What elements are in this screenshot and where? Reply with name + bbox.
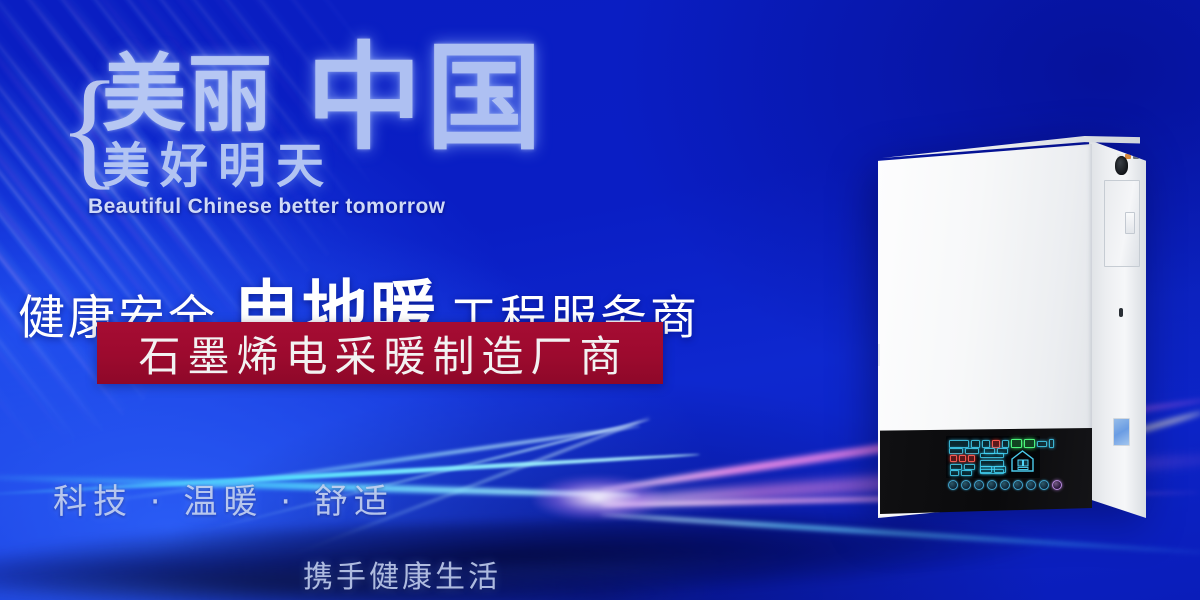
lcd-label-block-4 xyxy=(1002,440,1009,448)
touch-button-3[interactable] xyxy=(974,480,984,490)
promotional-banner: { 美丽 中国 美好明天 Beautiful Chinese better to… xyxy=(0,0,1200,600)
lcd-status-red-1 xyxy=(950,455,957,462)
red-banner-text: 石墨烯电采暖制造厂商 xyxy=(131,323,628,384)
product-touch-button-row[interactable] xyxy=(948,480,1062,490)
lcd-small-block-5 xyxy=(980,466,992,473)
logo-english-tagline: Beautiful Chinese better tomorrow xyxy=(88,196,445,217)
lcd-small-block-3 xyxy=(950,470,959,476)
lcd-small-block-4 xyxy=(961,470,972,476)
product-control-panel xyxy=(880,428,1092,514)
product-side-face xyxy=(1089,140,1146,518)
lcd-bar-1 xyxy=(980,453,1004,458)
lcd-alarm-indicator xyxy=(992,440,1000,448)
lcd-mode-block-1 xyxy=(949,448,963,454)
logo-primary-text: 美丽 xyxy=(102,52,274,136)
lcd-label-block-2 xyxy=(971,440,980,448)
light-convergence-hotspot xyxy=(533,476,663,520)
lcd-label-block-3 xyxy=(982,440,990,448)
tagline-primary: 科技 · 温暖 · 舒适 xyxy=(53,474,394,523)
product-side-latch xyxy=(1125,212,1135,234)
logo-accent-text: 中国 xyxy=(306,40,546,156)
tagline-secondary: 携手健康生活 xyxy=(303,552,501,596)
lcd-status-red-3 xyxy=(968,455,975,462)
touch-button-power[interactable] xyxy=(1052,480,1062,490)
lcd-label-block-5 xyxy=(1037,441,1047,447)
lcd-bottom-left-group xyxy=(950,470,972,476)
product-lcd-display xyxy=(946,436,1040,478)
lcd-top-row xyxy=(949,439,1054,448)
touch-button-4[interactable] xyxy=(987,480,997,490)
touch-button-2[interactable] xyxy=(961,480,971,490)
lcd-signal-icon xyxy=(1049,439,1054,448)
house-temperature-icon xyxy=(1010,449,1035,473)
lcd-status-indicators xyxy=(950,455,975,462)
lcd-bottom-mid-group xyxy=(980,466,1006,473)
touch-button-1[interactable] xyxy=(948,480,958,490)
connector-dark-icon xyxy=(1133,154,1139,159)
lcd-mode-block-2 xyxy=(965,448,979,454)
logo-secondary-text: 美好明天 xyxy=(102,142,334,190)
lcd-label-block-1 xyxy=(949,440,969,448)
lcd-digit-2 xyxy=(1024,439,1035,448)
touch-button-7[interactable] xyxy=(1026,480,1036,490)
touch-button-5[interactable] xyxy=(1000,480,1010,490)
product-vent-icon xyxy=(1115,156,1128,175)
product-side-port-icon xyxy=(1119,308,1123,317)
lcd-status-red-2 xyxy=(959,455,966,462)
lcd-digit-1 xyxy=(1011,439,1022,448)
lcd-small-block-6 xyxy=(994,466,1006,473)
red-highlight-banner: 石墨烯电采暖制造厂商 xyxy=(97,322,663,384)
product-side-indicator-window xyxy=(1113,418,1130,446)
touch-button-6[interactable] xyxy=(1013,480,1023,490)
touch-button-8[interactable] xyxy=(1039,480,1049,490)
product-image-electric-boiler xyxy=(878,118,1146,518)
brand-logo: { 美丽 中国 美好明天 Beautiful Chinese better to… xyxy=(58,52,488,217)
